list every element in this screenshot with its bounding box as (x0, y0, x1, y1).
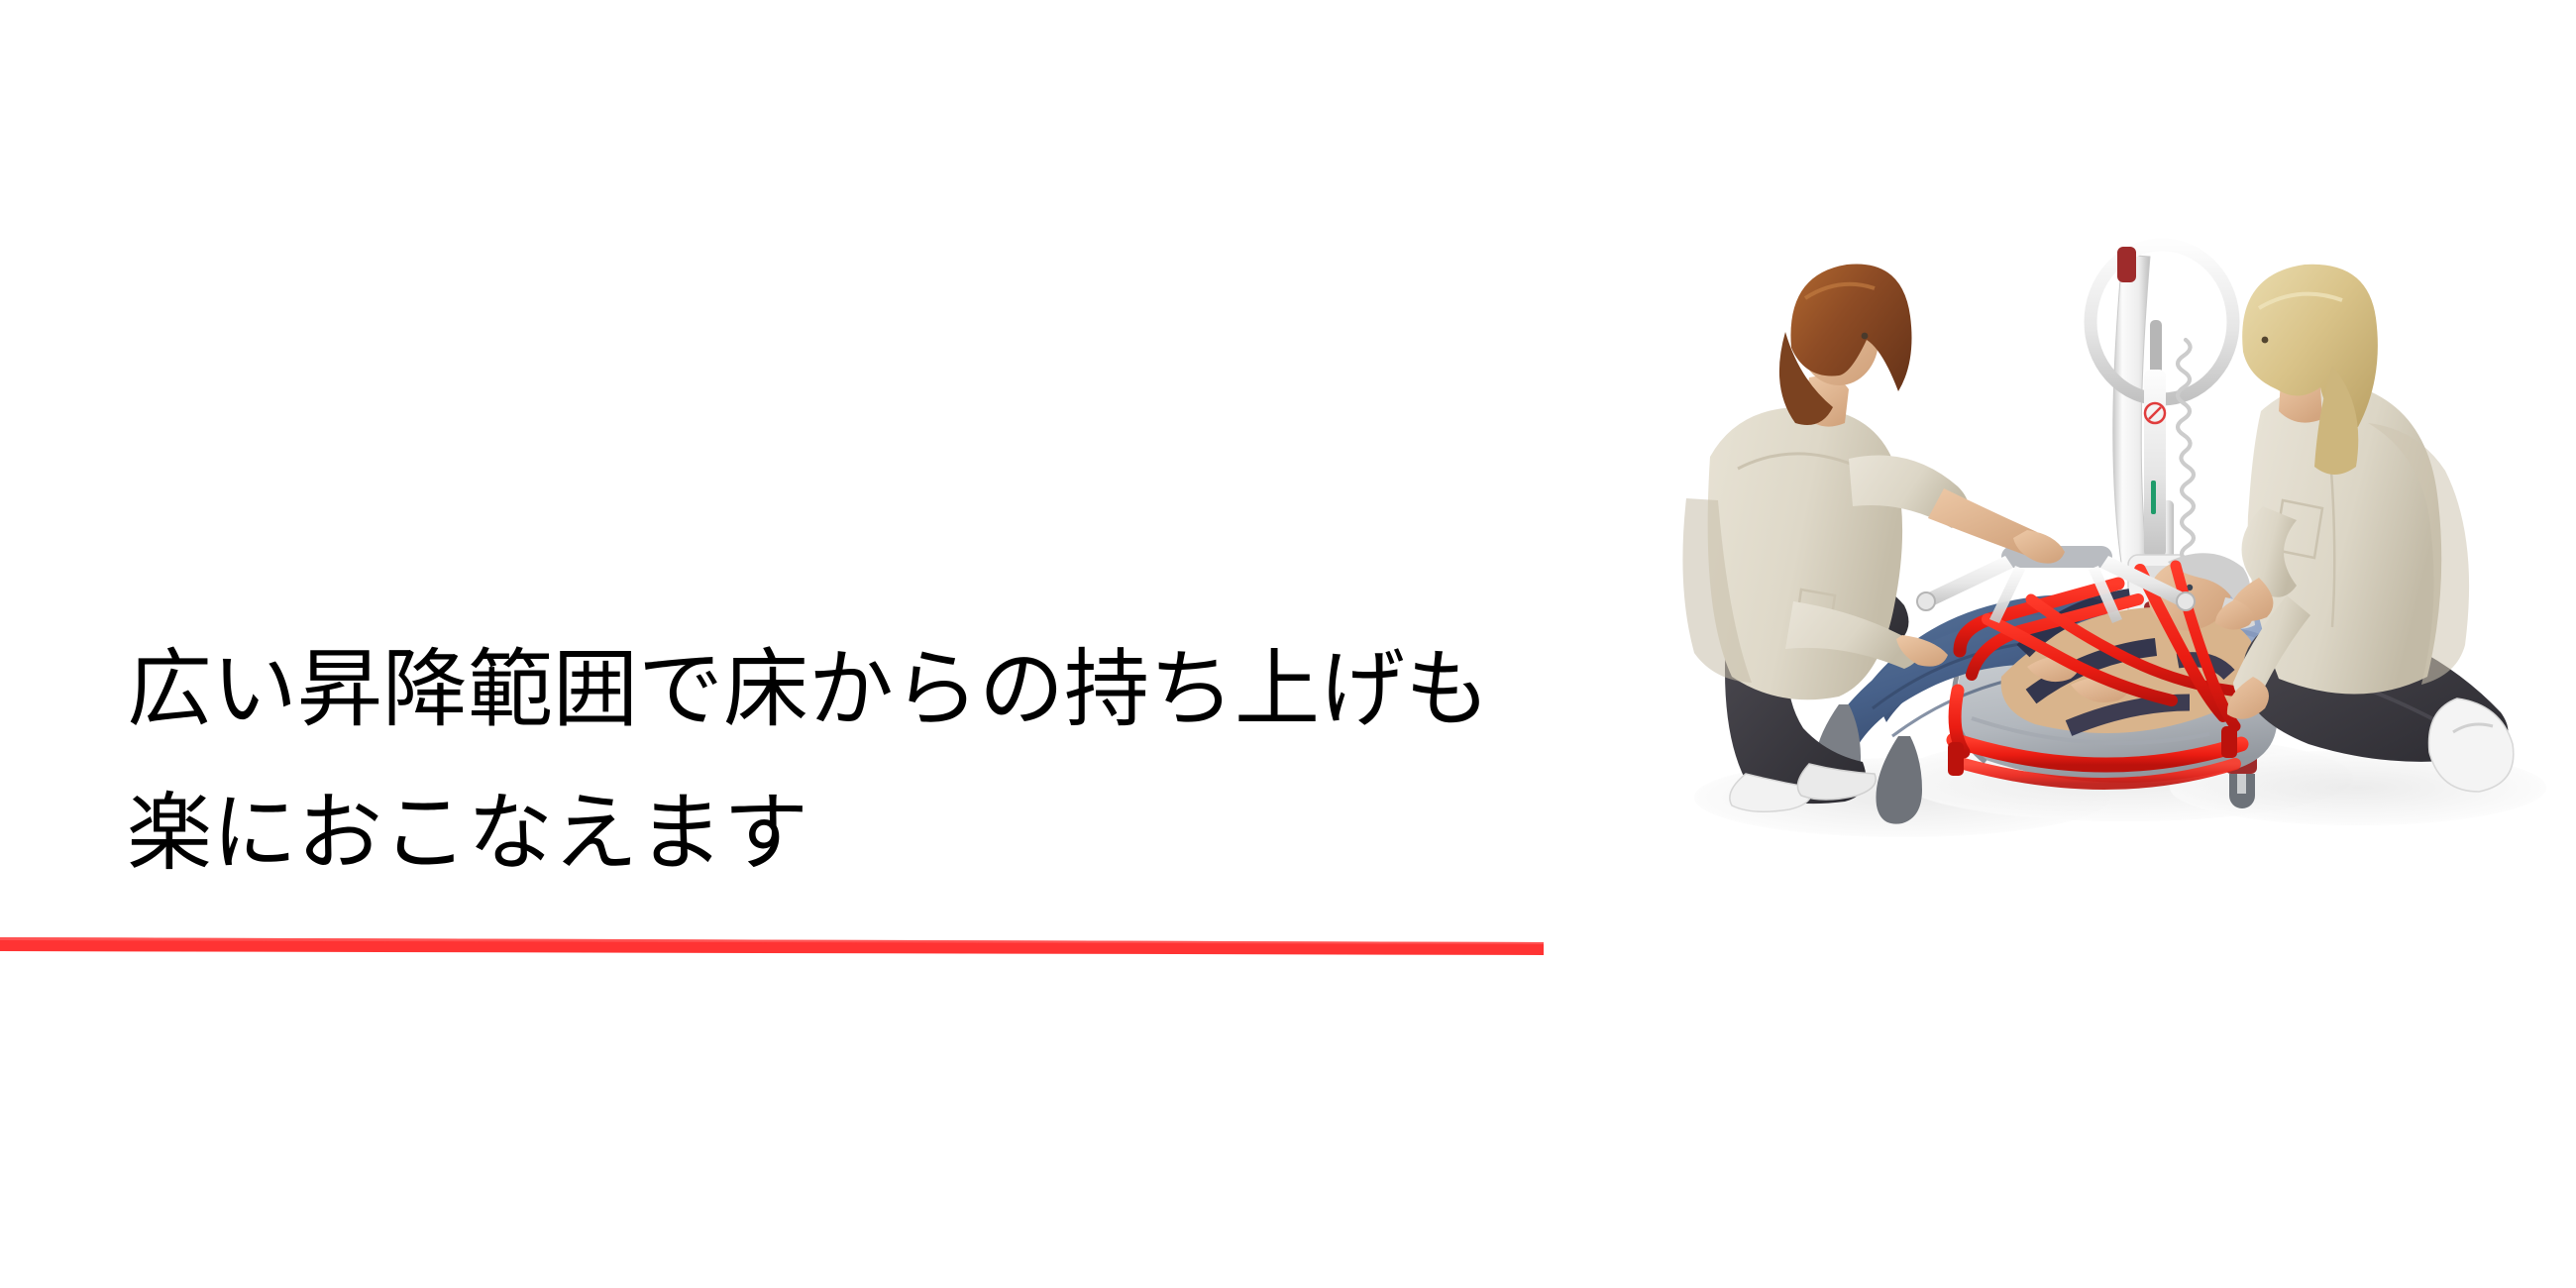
caregiver-right-eye (2262, 337, 2269, 344)
lift-boom-cap (2117, 247, 2136, 282)
lift-caster-fork (2237, 774, 2246, 794)
spreader-hook-right (2177, 592, 2195, 610)
hero-photo (1674, 203, 2556, 897)
red-underline-rule (0, 929, 1544, 955)
sling-clip-left (1948, 742, 1964, 776)
slide-canvas: 広い昇降範囲で床からの持ち上げも 楽におこなえます (0, 0, 2576, 1288)
patient-lift-photo-illustration (1674, 203, 2556, 897)
spreader-hook-left (1917, 592, 1935, 610)
lift-actuator-body (2144, 370, 2166, 558)
sling-clip-right (2221, 726, 2237, 758)
headline-line-2: 楽におこなえます (127, 762, 1593, 906)
caregiver-left-eye (1862, 333, 1869, 340)
headline-line-1: 広い昇降範囲で床からの持ち上げも (127, 618, 1593, 762)
page-title: 広い昇降範囲で床からの持ち上げも 楽におこなえます (127, 618, 1593, 906)
lift-status-indicator (2151, 481, 2156, 514)
